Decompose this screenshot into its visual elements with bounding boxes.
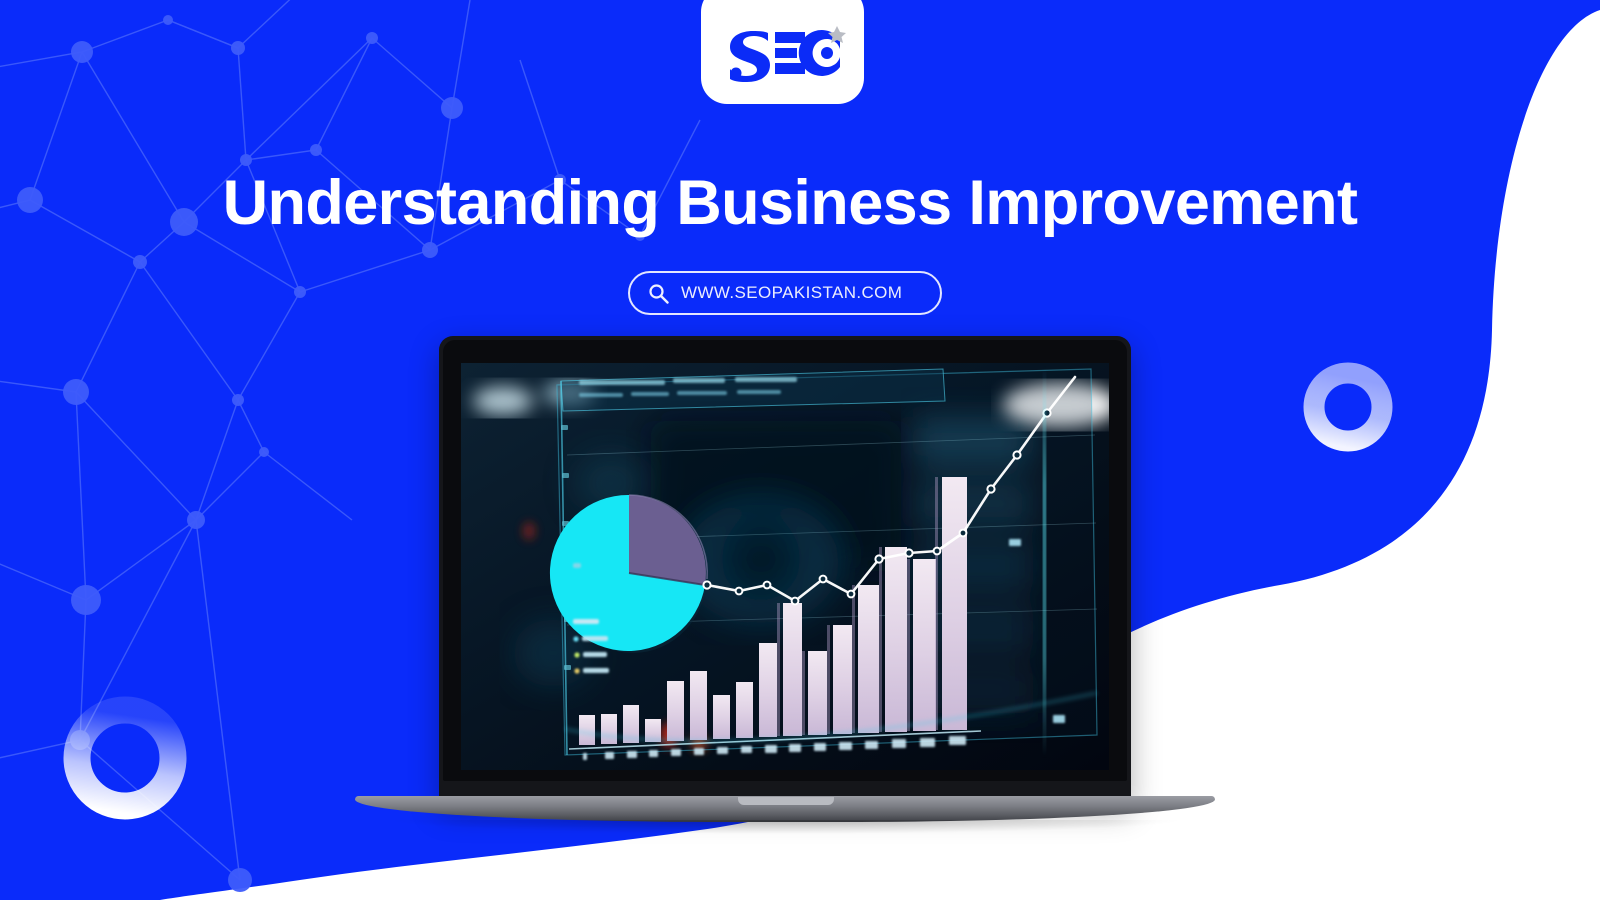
search-icon bbox=[648, 283, 669, 304]
laptop-base-notch bbox=[738, 797, 834, 805]
laptop-shadow bbox=[385, 820, 1185, 834]
seo-logo-badge[interactable] bbox=[701, 0, 864, 104]
search-bar[interactable]: WWW.SEOPAKISTAN.COM bbox=[628, 271, 942, 315]
search-input-value[interactable]: WWW.SEOPAKISTAN.COM bbox=[681, 283, 902, 303]
decorative-ring-left bbox=[63, 696, 187, 820]
dashboard-overlay bbox=[461, 363, 1109, 770]
decorative-ring-right bbox=[1302, 361, 1394, 453]
page-title: Understanding Business Improvement bbox=[0, 170, 1580, 236]
laptop-mockup bbox=[355, 336, 1215, 826]
slide-canvas: Understanding Business Improvement WWW.S… bbox=[0, 0, 1600, 900]
seo-logo-mark bbox=[717, 24, 849, 82]
laptop-screen bbox=[461, 363, 1109, 770]
